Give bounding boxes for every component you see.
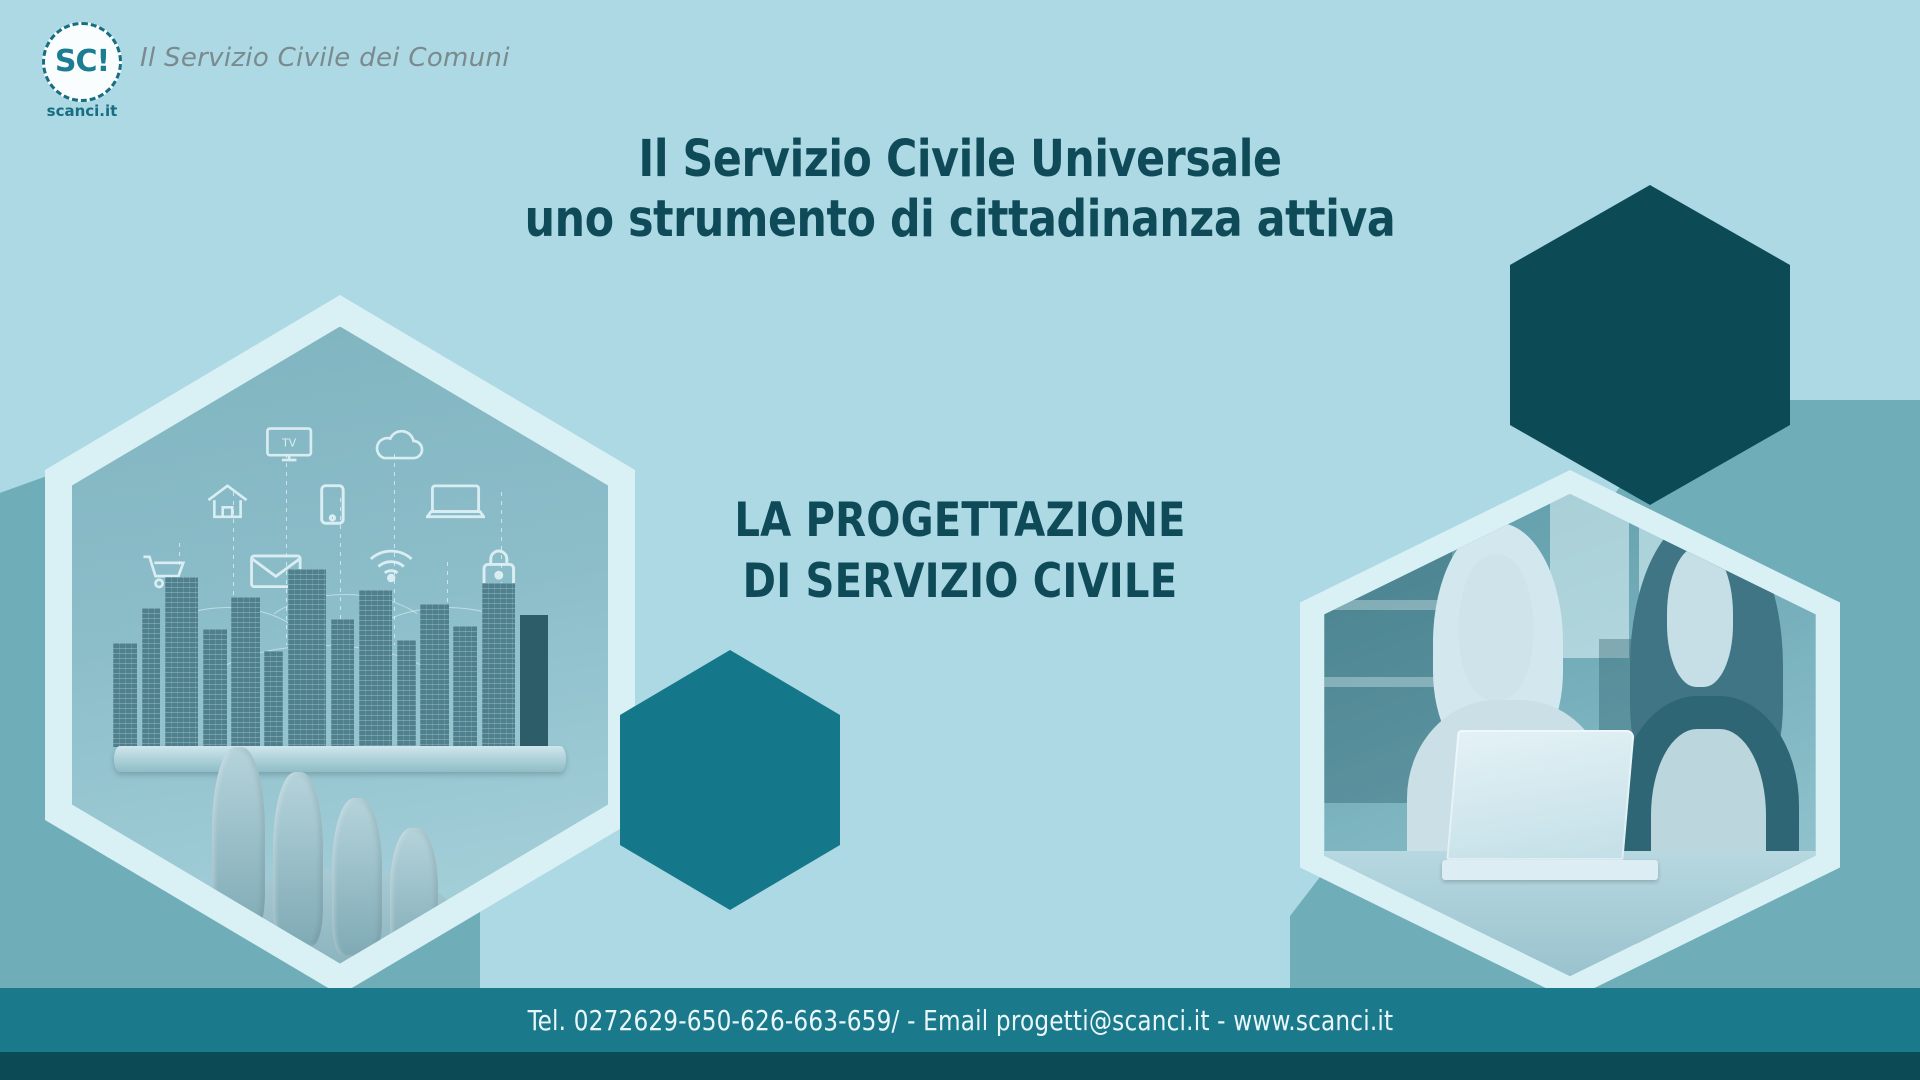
main-title-line-2: uno strumento di cittadinanza attiva xyxy=(67,190,1853,250)
footer-bottom-bar xyxy=(0,1052,1920,1080)
footer-contact-text: Tel. 0272629-650-626-663-659/ - Email pr… xyxy=(527,1004,1393,1037)
logo-mark-text: SC! xyxy=(55,47,109,77)
smartphone-icon xyxy=(319,479,346,530)
brand-header: SC! scanci.it Il Servizio Civile dei Com… xyxy=(42,22,510,120)
hexagon-image-inner-left: TV xyxy=(72,327,609,964)
smart-city-illustration: TV xyxy=(72,327,609,964)
main-title-line-1: Il Servizio Civile Universale xyxy=(67,130,1853,190)
laptop-screen xyxy=(1446,730,1634,860)
laptop-icon xyxy=(426,479,485,524)
women-at-laptop-photo xyxy=(1324,494,1815,976)
main-title: Il Servizio Civile Universale uno strume… xyxy=(0,130,1920,250)
decorative-hexagon-teal xyxy=(620,650,840,910)
subject-heading-line-1: LA PROGETTAZIONE xyxy=(656,490,1264,551)
presentation-slide: TV xyxy=(0,0,1920,1080)
hexagon-image-inner-right xyxy=(1324,494,1815,976)
logo-badge-circle: SC! xyxy=(42,22,122,102)
cloud-icon xyxy=(372,428,426,466)
house-icon xyxy=(206,479,249,524)
logo[interactable]: SC! scanci.it xyxy=(42,22,122,120)
subject-heading: LA PROGETTAZIONE DI SERVIZIO CIVILE xyxy=(640,490,1280,612)
laptop-keyboard xyxy=(1442,860,1658,879)
city-skyline xyxy=(104,569,576,747)
svg-text:TV: TV xyxy=(281,437,297,450)
logo-domain-text: scanci.it xyxy=(42,102,122,120)
tv-icon: TV xyxy=(265,422,313,467)
brand-tagline: Il Servizio Civile dei Comuni xyxy=(140,43,510,73)
subject-heading-line-2: DI SERVIZIO CIVILE xyxy=(656,551,1264,612)
footer-contact-bar: Tel. 0272629-650-626-663-659/ - Email pr… xyxy=(0,988,1920,1052)
hand-holding-tablet xyxy=(200,747,479,964)
